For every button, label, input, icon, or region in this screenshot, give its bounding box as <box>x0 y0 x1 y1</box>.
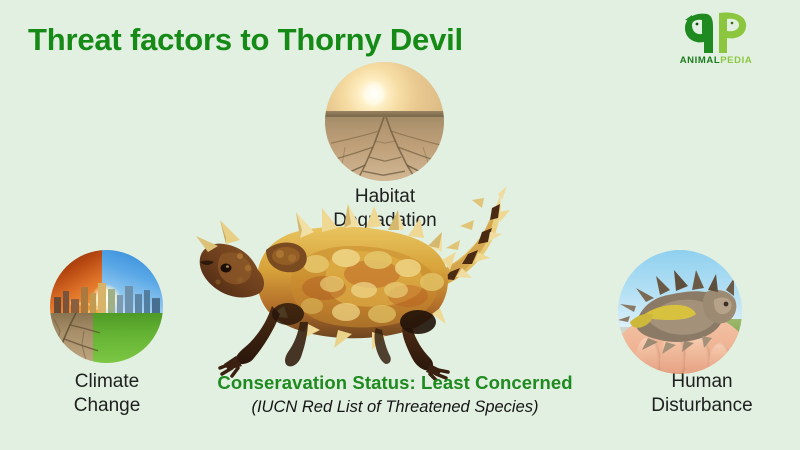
cracked-dry-earth-photo <box>325 62 444 181</box>
infographic-poster: Threat factors to Thorny Devil ANIMALPED… <box>0 0 800 450</box>
conservation-status-main: Conseravation Status: Least Concerned <box>160 372 630 394</box>
threat-label-human-line2: Disturbance <box>612 394 792 418</box>
climate-change-split-photo <box>50 250 163 363</box>
soil-cracks <box>325 117 444 181</box>
animalpedia-logo-icon <box>683 9 753 55</box>
conservation-status: Conseravation Status: Least Concerned (I… <box>160 372 630 417</box>
page-title: Threat factors to Thorny Devil <box>28 22 463 58</box>
thorny-devil-closeup <box>618 250 742 374</box>
logo-wordmark: ANIMALPEDIA <box>663 55 769 66</box>
logo-word-pedia: PEDIA <box>720 55 752 66</box>
thorny-devil-in-hand-photo <box>618 250 742 374</box>
thorny-devil-illustration <box>196 178 516 383</box>
conservation-status-source: (IUCN Red List of Threatened Species) <box>160 398 630 417</box>
logo-word-animal: ANIMAL <box>680 55 721 66</box>
threat-label-human: Human Disturbance <box>612 370 792 418</box>
sun-icon <box>361 81 387 107</box>
green-grass-region <box>93 313 163 363</box>
soil-cracks <box>50 313 102 363</box>
brand-logo: ANIMALPEDIA <box>663 9 769 71</box>
threat-label-human-line1: Human <box>612 370 792 394</box>
city-skyline <box>50 279 163 315</box>
